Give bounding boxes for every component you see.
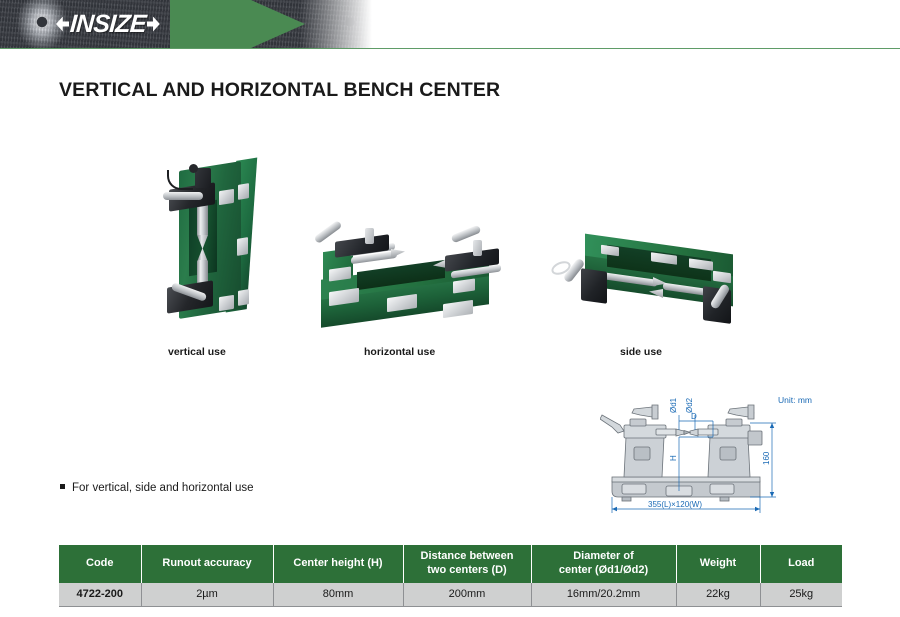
table-row[interactable]: 4722-200 2µm 80mm 200mm 16mm/20.2mm 22kg…: [59, 583, 842, 607]
product-post: [473, 240, 482, 256]
product-pad: [238, 289, 249, 306]
technical-dimension-drawing: Unit: mm: [600, 393, 900, 523]
label-diameter-d1: Ød1: [669, 397, 678, 413]
header-line-2: center (Ød1/Ød2): [534, 564, 674, 578]
cell-code: 4722-200: [59, 583, 141, 607]
column-header-weight: Weight: [676, 545, 760, 583]
product-knob: [189, 164, 198, 173]
logo-text: INSIZE: [68, 12, 148, 37]
header-line-1: Center height (H): [276, 557, 401, 571]
table-header-row: Code Runout accuracy Center height (H) D…: [59, 545, 842, 583]
header-line-1: Load: [763, 557, 841, 571]
column-header-runout-accuracy: Runout accuracy: [141, 545, 273, 583]
page-header: INSIZE: [0, 0, 900, 48]
product-clamp-block: [581, 268, 607, 304]
column-header-code: Code: [59, 545, 141, 583]
product-caption-side: side use: [620, 346, 662, 358]
cell-diameter-of-center: 16mm/20.2mm: [531, 583, 676, 607]
arrow-right-icon: [147, 17, 160, 32]
label-footprint: 355(L)×120(W): [648, 500, 702, 509]
column-header-diameter-of-center: Diameter of center (Ød1/Ød2): [531, 545, 676, 583]
header-line-2: two centers (D): [406, 564, 529, 578]
arrow-left-icon: [56, 17, 69, 32]
feature-text: For vertical, side and horizontal use: [72, 482, 254, 494]
header-line-1: Weight: [679, 557, 758, 571]
label-distance-d: D: [691, 412, 697, 421]
drawing-svg: Ød1 Ød2 D H 160 355(L)×120(W): [600, 393, 900, 523]
column-header-distance-between-centers: Distance between two centers (D): [403, 545, 531, 583]
header-line-1: Runout accuracy: [144, 557, 271, 571]
product-spindle: [197, 202, 208, 236]
product-photo-vertical-use: [145, 150, 265, 330]
label-height-h: H: [669, 455, 678, 461]
column-header-load: Load: [760, 545, 842, 583]
cell-distance-between-centers: 200mm: [403, 583, 531, 607]
header-line-1: Distance between: [406, 550, 529, 564]
header-divider: [0, 48, 900, 49]
page-title: VERTICAL AND HORIZONTAL BENCH CENTER: [59, 79, 500, 102]
column-header-center-height: Center height (H): [273, 545, 403, 583]
header-line-1: Code: [61, 557, 139, 571]
feature-list-item: For vertical, side and horizontal use: [60, 482, 254, 494]
product-pad: [238, 183, 249, 200]
cell-load: 25kg: [760, 583, 842, 607]
product-clamp-lever: [163, 192, 203, 200]
specification-table: Code Runout accuracy Center height (H) D…: [59, 545, 842, 607]
label-diameter-d2: Ød2: [685, 397, 694, 413]
product-post: [365, 228, 374, 244]
product-cable: [167, 170, 193, 190]
header-fade-overlay: [300, 0, 400, 48]
product-caption-horizontal: horizontal use: [364, 346, 435, 358]
product-photo-side-use: [545, 230, 760, 335]
product-pad: [443, 300, 473, 318]
cell-weight: 22kg: [676, 583, 760, 607]
product-pad: [237, 237, 248, 256]
cell-center-height: 80mm: [273, 583, 403, 607]
product-photo-horizontal-use: [305, 210, 505, 335]
bullet-square-icon: [60, 484, 65, 489]
product-caption-vertical: vertical use: [168, 346, 226, 358]
cell-runout-accuracy: 2µm: [141, 583, 273, 607]
label-overall-height: 160: [762, 451, 771, 465]
header-line-1: Diameter of: [534, 550, 674, 564]
product-pad: [219, 189, 234, 205]
insize-logo[interactable]: INSIZE: [56, 11, 160, 37]
product-pad: [219, 295, 234, 311]
product-top-cap: [195, 168, 211, 188]
